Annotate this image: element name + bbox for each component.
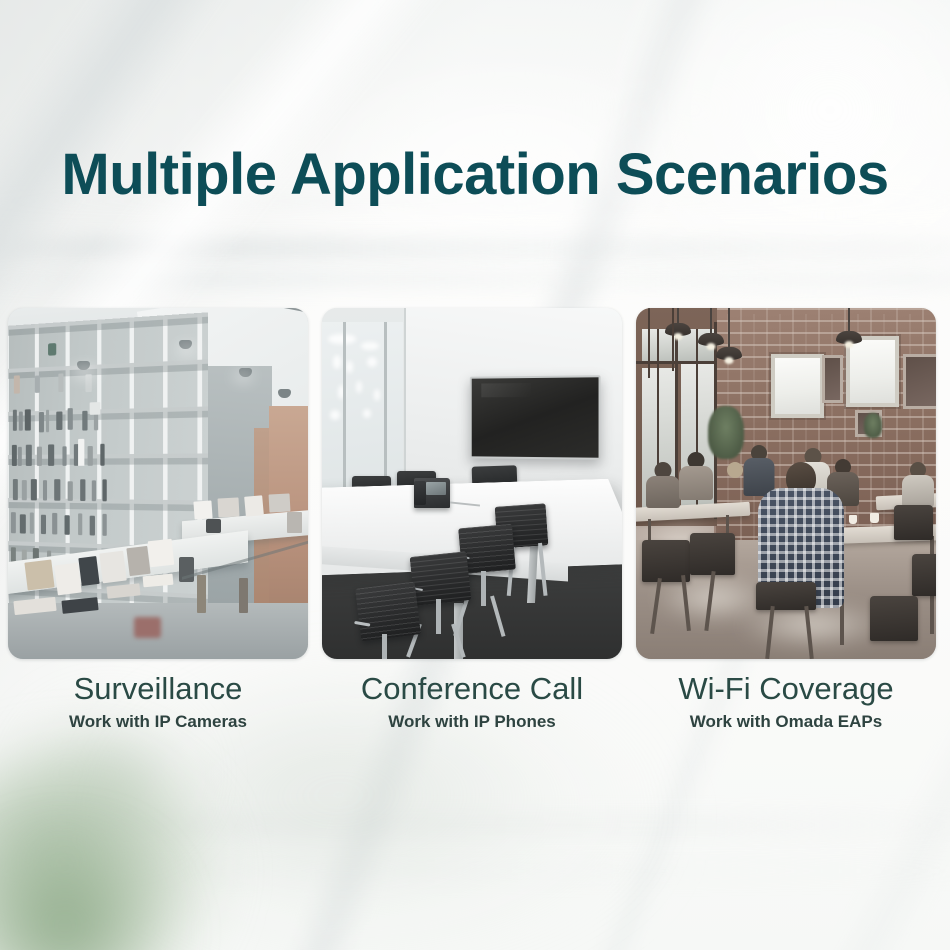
caption-title: Conference Call	[322, 672, 622, 707]
caption-subtitle: Work with Omada EAPs	[636, 712, 936, 732]
scenario-caption-list: Surveillance Work with IP Cameras Confer…	[8, 672, 937, 732]
page-title: Multiple Application Scenarios	[0, 146, 950, 204]
ip-conference-phone	[414, 478, 450, 508]
promo-banner: Multiple Application Scenarios	[0, 0, 950, 950]
caption-subtitle: Work with IP Phones	[322, 712, 622, 732]
wifi-coverage-photo	[636, 308, 936, 659]
caption-subtitle: Work with IP Cameras	[8, 712, 308, 732]
caption-wifi-coverage: Wi-Fi Coverage Work with Omada EAPs	[636, 672, 936, 732]
conference-call-photo	[322, 308, 622, 659]
caption-surveillance: Surveillance Work with IP Cameras	[8, 672, 308, 732]
wall-mounted-display	[469, 376, 599, 461]
caption-title: Wi-Fi Coverage	[636, 672, 936, 707]
scenario-card-conference-call[interactable]	[322, 308, 622, 659]
caption-conference-call: Conference Call Work with IP Phones	[322, 672, 622, 732]
scenario-card-list	[8, 308, 937, 659]
scenario-card-wifi-coverage[interactable]	[636, 308, 936, 659]
scenario-card-surveillance[interactable]	[8, 308, 308, 659]
surveillance-photo	[8, 308, 308, 659]
caption-title: Surveillance	[8, 672, 308, 707]
